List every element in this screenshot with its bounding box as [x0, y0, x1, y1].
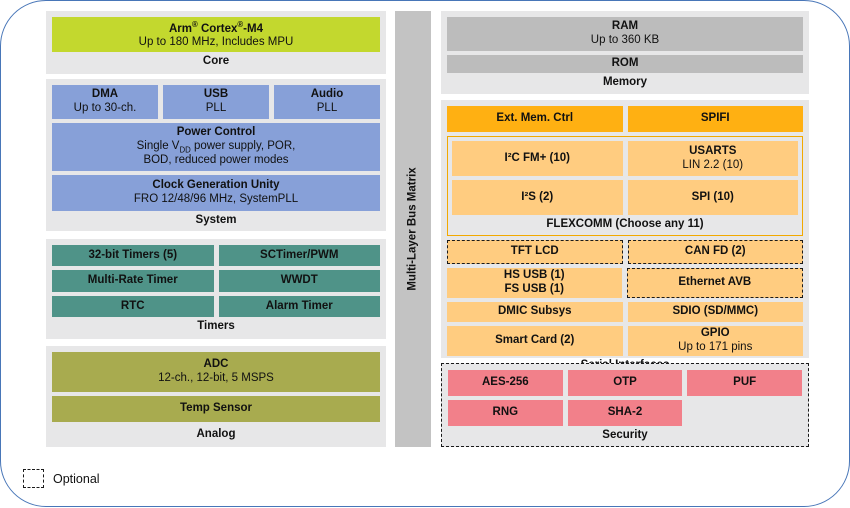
block-diagram-canvas: Arm® Cortex®-M4Up to 180 MHz, Includes M… — [1, 1, 850, 508]
block-subtitle: Up to 30-ch. — [74, 102, 137, 116]
block-aes-256[interactable]: AES-256 — [448, 370, 563, 396]
block-title: Power Control — [177, 126, 256, 140]
block-title: SPI (10) — [692, 191, 734, 205]
serial-top-rows: Ext. Mem. CtrlSPIFI — [447, 106, 803, 132]
block-32-bit-timers-5[interactable]: 32-bit Timers (5) — [52, 245, 214, 266]
block-title: ADC — [204, 358, 229, 372]
block-title: ROM — [612, 57, 639, 71]
legend-optional: Optional — [23, 469, 100, 488]
block-temp-sensor[interactable]: Temp Sensor — [52, 396, 380, 422]
group-system-rows: DMAUp to 30-ch.USBPLLAudioPLLPower Contr… — [52, 85, 380, 211]
block-rng[interactable]: RNG — [448, 400, 563, 426]
legend-optional-label: Optional — [53, 472, 100, 486]
block-subtitle: 12-ch., 12-bit, 5 MSPS — [158, 372, 274, 386]
block-row: TFT LCDCAN FD (2) — [447, 240, 803, 264]
diagram-slide-frame: Arm® Cortex®-M4Up to 180 MHz, Includes M… — [0, 0, 850, 507]
block-row: Multi-Rate TimerWWDT — [52, 270, 380, 291]
block-title: Ethernet AVB — [678, 276, 751, 290]
block-subtitle: FRO 12/48/96 MHz, SystemPLL — [134, 193, 298, 207]
block-title: DMIC Subsys — [498, 305, 572, 319]
group-memory: RAMUp to 360 KBROM Memory — [441, 11, 809, 94]
block-title: Temp Sensor — [180, 402, 252, 416]
block-spifi[interactable]: SPIFI — [628, 106, 804, 132]
group-memory-rows: RAMUp to 360 KBROM — [447, 17, 803, 73]
block-row: I²C FM+ (10)USARTSLIN 2.2 (10) — [452, 141, 798, 176]
block-row: Clock Generation UnityFRO 12/48/96 MHz, … — [52, 175, 380, 211]
block-ethernet-avb[interactable]: Ethernet AVB — [627, 268, 804, 298]
block-sha-2[interactable]: SHA-2 — [568, 400, 683, 426]
block-ic-fm-10[interactable]: I²C FM+ (10) — [452, 141, 623, 176]
block-row: RAMUp to 360 KB — [447, 17, 803, 51]
block-title: Smart Card (2) — [495, 334, 574, 348]
flexcomm-group: I²C FM+ (10)USARTSLIN 2.2 (10)I²S (2)SPI… — [447, 136, 803, 236]
multi-layer-bus-matrix: Multi-Layer Bus Matrix — [395, 11, 431, 447]
block-gpio[interactable]: GPIOUp to 171 pins — [628, 326, 804, 356]
vdd-subscript: DD — [179, 145, 190, 154]
block-row: AES-256OTPPUF — [448, 370, 802, 396]
block-sctimer-pwm[interactable]: SCTimer/PWM — [219, 245, 381, 266]
block-subtitle: Up to 180 MHz, Includes MPU — [139, 36, 294, 50]
block-title: SHA-2 — [608, 406, 643, 420]
dashed-square-icon — [23, 469, 44, 488]
block-title: USARTS — [689, 145, 736, 159]
block-row: HS USB (1)FS USB (1)Ethernet AVB — [447, 268, 803, 298]
group-security-rows: AES-256OTPPUFRNGSHA-2 — [448, 370, 802, 426]
block-tft-lcd[interactable]: TFT LCD — [447, 240, 623, 264]
block-title: GPIO — [701, 327, 730, 341]
block-title: WWDT — [281, 274, 318, 288]
block-row: Power ControlSingle VDD power supply, PO… — [52, 123, 380, 171]
block-row: Temp Sensor — [52, 396, 380, 422]
block-audio[interactable]: AudioPLL — [274, 85, 380, 119]
block-row: ROM — [447, 55, 803, 73]
block-row: 32-bit Timers (5)SCTimer/PWM — [52, 245, 380, 266]
group-analog: ADC12-ch., 12-bit, 5 MSPSTemp Sensor Ana… — [46, 346, 386, 447]
bus-matrix-label: Multi-Layer Bus Matrix — [407, 167, 419, 290]
group-timers: 32-bit Timers (5)SCTimer/PWMMulti-Rate T… — [46, 239, 386, 339]
block-otp[interactable]: OTP — [568, 370, 683, 396]
block-sdio-sd-mmc[interactable]: SDIO (SD/MMC) — [628, 302, 804, 322]
block-title: AES-256 — [482, 376, 529, 390]
block-ext-mem-ctrl[interactable]: Ext. Mem. Ctrl — [447, 106, 623, 132]
registered-mark: ® — [192, 20, 198, 29]
block-arm-cortex-m4[interactable]: Arm® Cortex®-M4Up to 180 MHz, Includes M… — [52, 17, 380, 52]
block-is-2[interactable]: I²S (2) — [452, 180, 623, 215]
block-row: I²S (2)SPI (10) — [452, 180, 798, 215]
block-wwdt[interactable]: WWDT — [219, 270, 381, 291]
block-subtitle: PLL — [317, 102, 337, 116]
group-memory-label: Memory — [447, 73, 803, 89]
block-title: Multi-Rate Timer — [88, 274, 178, 288]
block-alarm-timer[interactable]: Alarm Timer — [219, 296, 381, 317]
block-smart-card-2[interactable]: Smart Card (2) — [447, 326, 623, 356]
block-clock-generation-unity[interactable]: Clock Generation UnityFRO 12/48/96 MHz, … — [52, 175, 380, 211]
block-ram[interactable]: RAMUp to 360 KB — [447, 17, 803, 51]
block-dma[interactable]: DMAUp to 30-ch. — [52, 85, 158, 119]
block-title: Audio — [311, 88, 344, 102]
block-title: Ext. Mem. Ctrl — [496, 112, 573, 126]
block-title: Clock Generation Unity — [152, 179, 279, 193]
flexcomm-label: FLEXCOMM (Choose any 11) — [452, 215, 798, 231]
group-timers-rows: 32-bit Timers (5)SCTimer/PWMMulti-Rate T… — [52, 245, 380, 317]
flexcomm-rows: I²C FM+ (10)USARTSLIN 2.2 (10)I²S (2)SPI… — [452, 141, 798, 215]
block-title: CAN FD (2) — [685, 245, 746, 259]
block-title: RAM — [612, 20, 638, 34]
block-row: Ext. Mem. CtrlSPIFI — [447, 106, 803, 132]
block-title: USB — [204, 88, 228, 102]
block-row: Arm® Cortex®-M4Up to 180 MHz, Includes M… — [52, 17, 380, 52]
block-can-fd-2[interactable]: CAN FD (2) — [628, 240, 804, 264]
block-title: SCTimer/PWM — [260, 249, 338, 263]
block-row: ADC12-ch., 12-bit, 5 MSPS — [52, 352, 380, 392]
block-title: RNG — [493, 406, 519, 420]
group-core-rows: Arm® Cortex®-M4Up to 180 MHz, Includes M… — [52, 17, 380, 52]
block-subtitle: PLL — [206, 102, 226, 116]
group-serial-interfaces: Ext. Mem. CtrlSPIFI I²C FM+ (10)USARTSLI… — [441, 100, 809, 358]
block-rom[interactable]: ROM — [447, 55, 803, 73]
block-row: DMIC SubsysSDIO (SD/MMC) — [447, 302, 803, 322]
block-title: 32-bit Timers (5) — [88, 249, 177, 263]
group-timers-label: Timers — [52, 317, 380, 333]
block-usarts[interactable]: USARTSLIN 2.2 (10) — [628, 141, 799, 176]
block-row: RTCAlarm Timer — [52, 296, 380, 317]
group-security-label: Security — [448, 426, 802, 442]
block-title: I²S (2) — [521, 191, 553, 205]
group-security: AES-256OTPPUFRNGSHA-2 Security — [441, 363, 809, 447]
registered-mark: ® — [237, 20, 243, 29]
block-adc[interactable]: ADC12-ch., 12-bit, 5 MSPS — [52, 352, 380, 392]
block-title: Arm® Cortex®-M4 — [169, 20, 263, 36]
block-row: RNGSHA-2 — [448, 400, 802, 426]
block-title: TFT LCD — [511, 245, 559, 259]
block-subtitle: Single VDD power supply, POR,BOD, reduce… — [137, 140, 296, 168]
block-title: PUF — [733, 376, 756, 390]
block-spacer — [687, 400, 802, 426]
block-subtitle: Up to 171 pins — [678, 341, 752, 355]
group-core: Arm® Cortex®-M4Up to 180 MHz, Includes M… — [46, 11, 386, 74]
group-system: DMAUp to 30-ch.USBPLLAudioPLLPower Contr… — [46, 79, 386, 231]
group-core-label: Core — [52, 52, 380, 68]
block-subtitle: LIN 2.2 (10) — [682, 159, 743, 173]
block-hs-usb-1[interactable]: HS USB (1)FS USB (1) — [447, 268, 622, 298]
group-analog-label: Analog — [52, 425, 380, 441]
block-dmic-subsys[interactable]: DMIC Subsys — [447, 302, 623, 322]
block-title: OTP — [613, 376, 637, 390]
block-title: DMA — [92, 88, 118, 102]
block-title: SPIFI — [701, 112, 730, 126]
block-title: I²C FM+ (10) — [505, 152, 571, 166]
block-multi-rate-timer[interactable]: Multi-Rate Timer — [52, 270, 214, 291]
block-usb[interactable]: USBPLL — [163, 85, 269, 119]
block-title: Alarm Timer — [266, 300, 333, 314]
block-spi-10[interactable]: SPI (10) — [628, 180, 799, 215]
serial-bottom-rows: TFT LCDCAN FD (2)HS USB (1)FS USB (1)Eth… — [447, 240, 803, 356]
block-power-control[interactable]: Power ControlSingle VDD power supply, PO… — [52, 123, 380, 171]
block-title: SDIO (SD/MMC) — [672, 305, 758, 319]
block-title: HS USB (1) — [504, 269, 565, 283]
group-analog-rows: ADC12-ch., 12-bit, 5 MSPSTemp Sensor — [52, 352, 380, 425]
block-puf[interactable]: PUF — [687, 370, 802, 396]
block-row: DMAUp to 30-ch.USBPLLAudioPLL — [52, 85, 380, 119]
block-subtitle: FS USB (1) — [505, 283, 564, 297]
group-system-label: System — [52, 211, 380, 227]
block-title: RTC — [121, 300, 145, 314]
block-rtc[interactable]: RTC — [52, 296, 214, 317]
block-row: Smart Card (2)GPIOUp to 171 pins — [447, 326, 803, 356]
block-subtitle: Up to 360 KB — [591, 34, 659, 48]
